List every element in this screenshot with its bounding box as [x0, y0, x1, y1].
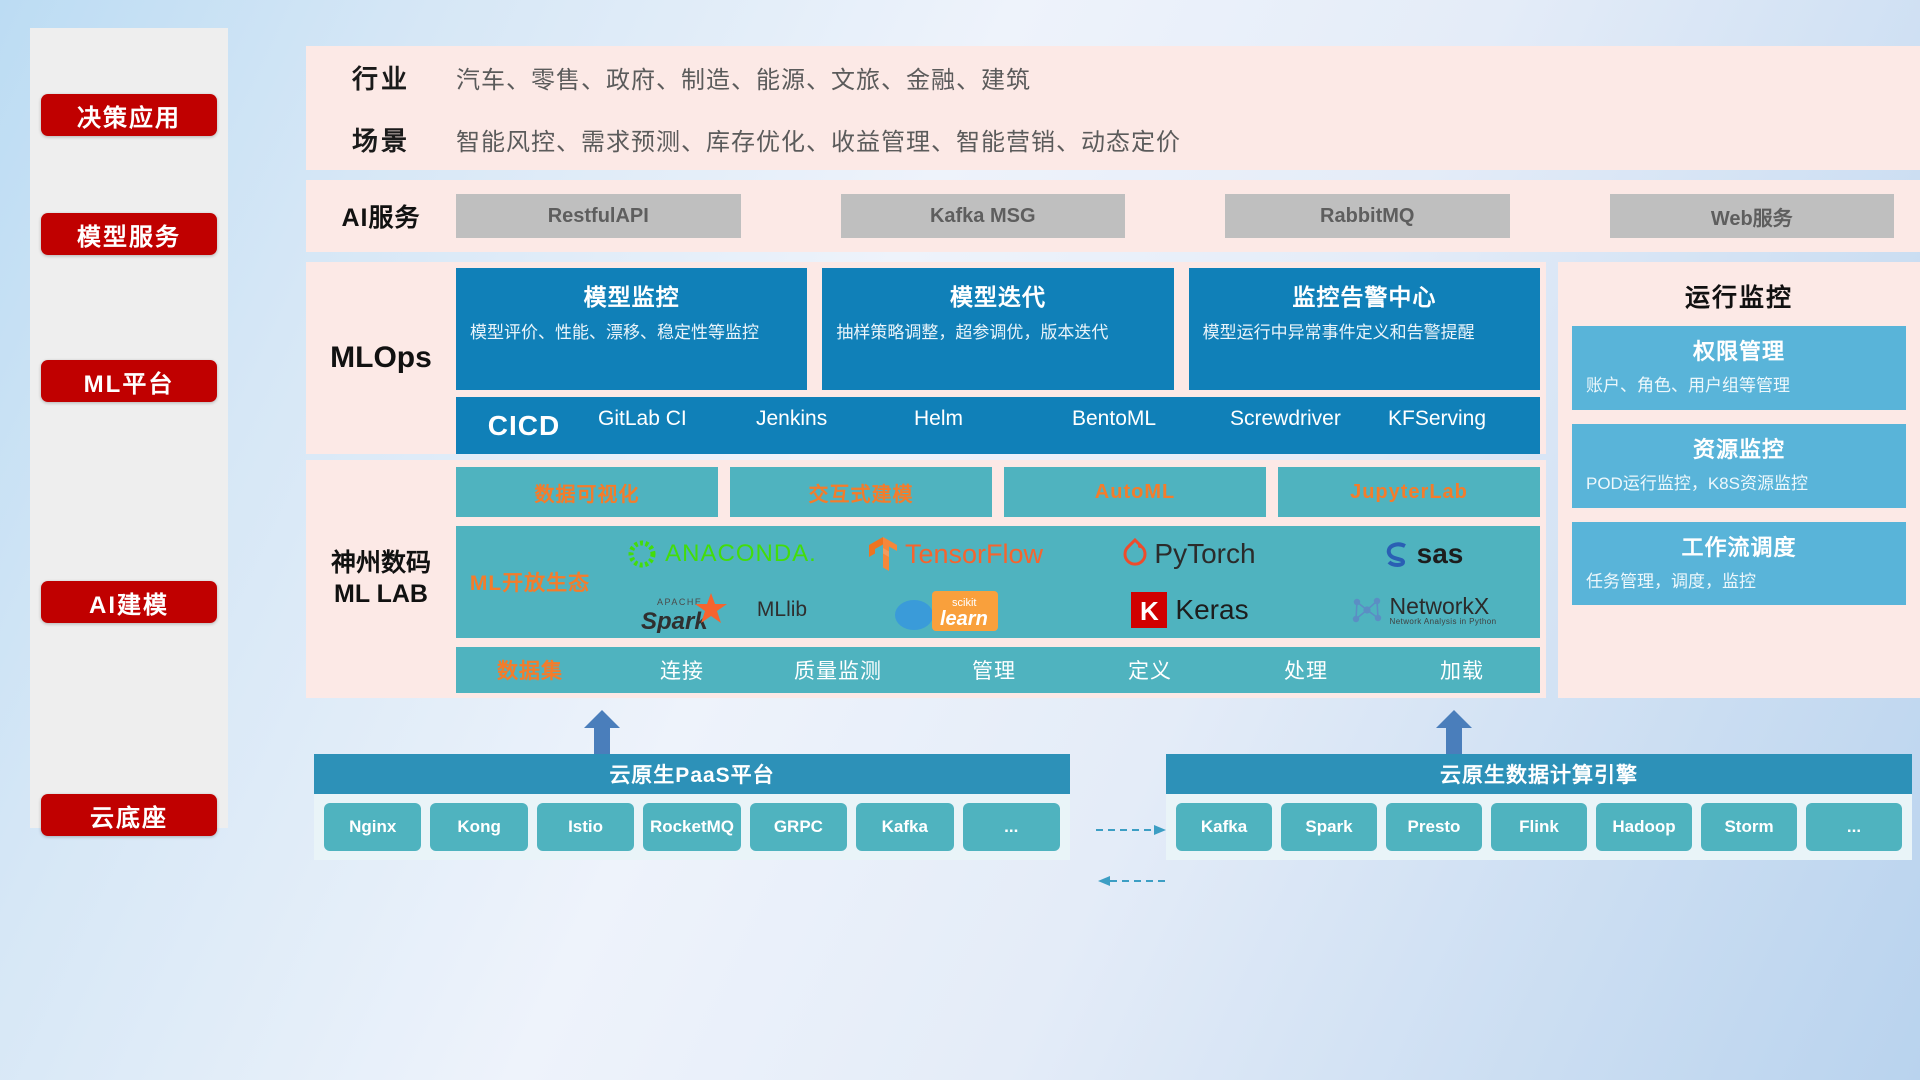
card-title: 权限管理	[1586, 334, 1892, 366]
rail-item-label: 决策应用	[77, 98, 181, 133]
card-title: 模型迭代	[836, 278, 1159, 312]
eco-logo-row-1: ANACONDA. TensorFlow	[604, 526, 1540, 582]
paas-chip-rocketmq[interactable]: RocketMQ	[643, 803, 740, 851]
cloud-paas-chip-group: Nginx Kong Istio RocketMQ GRPC Kafka ...	[314, 794, 1070, 860]
service-chip-web[interactable]: Web服务	[1610, 194, 1895, 238]
eco-title: ML开放生态	[456, 567, 604, 597]
ml-lab-body: 数据可视化 交互式建模 AutoML JupyterLab ML开放生态 ANA…	[456, 460, 1546, 698]
card-desc: 任务管理，调度，监控	[1586, 570, 1892, 594]
dataset-title: 数据集	[456, 655, 604, 685]
monitoring-card-workflow[interactable]: 工作流调度 任务管理，调度，监控	[1572, 522, 1906, 606]
rail-item-cloud-base[interactable]: 云底座	[41, 794, 217, 836]
dataset-item-manage[interactable]: 管理	[916, 655, 1072, 685]
cicd-bar: CICD GitLab CI Jenkins Helm BentoML Scre…	[456, 397, 1540, 454]
mlops-card-model-monitoring[interactable]: 模型监控 模型评价、性能、漂移、稳定性等监控	[456, 268, 807, 390]
service-chip-kafka-msg[interactable]: Kafka MSG	[841, 194, 1126, 238]
service-chip-restfulapi[interactable]: RestfulAPI	[456, 194, 741, 238]
dataset-item-group: 连接 质量监测 管理 定义 处理 加载	[604, 655, 1540, 685]
card-title: 资源监控	[1586, 432, 1892, 464]
dataset-item-process[interactable]: 处理	[1228, 655, 1384, 685]
paas-chip-more[interactable]: ...	[963, 803, 1060, 851]
svg-text:K: K	[1140, 596, 1159, 626]
cloud-foundation-band: 云原生PaaS平台 Nginx Kong Istio RocketMQ GRPC…	[306, 710, 1920, 870]
arrow-left-dashed-icon	[1096, 874, 1168, 892]
engine-chip-hadoop[interactable]: Hadoop	[1596, 803, 1692, 851]
logo-mllib-label: MLlib	[757, 598, 807, 622]
tool-chip-data-visualization[interactable]: 数据可视化	[456, 467, 718, 517]
cicd-item-helm[interactable]: Helm	[908, 404, 1066, 434]
ai-service-chip-group: RestfulAPI Kafka MSG RabbitMQ Web服务	[456, 194, 1920, 238]
ml-lab-label-line2: ML LAB	[334, 579, 428, 610]
logo-tensorflow-label: TensorFlow	[905, 539, 1043, 570]
svg-text:learn: learn	[940, 608, 988, 630]
rail-item-label: ML平台	[84, 364, 175, 399]
card-title: 监控告警中心	[1203, 278, 1526, 312]
rail-item-label: 云底座	[90, 798, 168, 833]
engine-chip-kafka[interactable]: Kafka	[1176, 803, 1272, 851]
mlops-card-alert-center[interactable]: 监控告警中心 模型运行中异常事件定义和告警提醒	[1189, 268, 1540, 390]
monitoring-card-resource[interactable]: 资源监控 POD运行监控，K8S资源监控	[1572, 424, 1906, 508]
cicd-item-gitlab-ci[interactable]: GitLab CI	[592, 404, 750, 434]
rail-item-decision-apps[interactable]: 决策应用	[41, 94, 217, 136]
cicd-item-kfserving[interactable]: KFServing	[1382, 404, 1540, 434]
decision-apps-band: 行业 汽车、零售、政府、制造、能源、文旅、金融、建筑 场景 智能风控、需求预测、…	[306, 46, 1920, 170]
card-desc: POD运行监控，K8S资源监控	[1586, 472, 1892, 496]
mlops-body: 模型监控 模型评价、性能、漂移、稳定性等监控 模型迭代 抽样策略调整，超参调优，…	[456, 262, 1546, 454]
eco-logo-row-2: APACHE Spark MLlib scikit learn	[604, 582, 1540, 638]
rail-item-model-service[interactable]: 模型服务	[41, 213, 217, 255]
engine-chip-storm[interactable]: Storm	[1701, 803, 1797, 851]
tool-chip-jupyterlab[interactable]: JupyterLab	[1278, 467, 1540, 517]
industry-value: 汽车、零售、政府、制造、能源、文旅、金融、建筑	[456, 60, 1031, 95]
logo-sas-icon: sas	[1306, 538, 1540, 570]
cloud-paas-title: 云原生PaaS平台	[314, 754, 1070, 794]
ml-lab-label-line1: 神州数码	[331, 548, 431, 579]
mlops-card-group: 模型监控 模型评价、性能、漂移、稳定性等监控 模型迭代 抽样策略调整，超参调优，…	[456, 268, 1540, 390]
ml-lab-label: 神州数码 ML LAB	[306, 460, 456, 698]
paas-chip-grpc[interactable]: GRPC	[750, 803, 847, 851]
logo-scikit-learn-icon: scikit learn	[838, 587, 1072, 633]
svg-text:APACHE: APACHE	[657, 597, 702, 607]
rail-item-label: AI建模	[89, 585, 169, 620]
engine-chip-spark[interactable]: Spark	[1281, 803, 1377, 851]
engine-chip-presto[interactable]: Presto	[1386, 803, 1482, 851]
cloud-data-engine-title: 云原生数据计算引擎	[1166, 754, 1912, 794]
logo-tensorflow-icon: TensorFlow	[838, 535, 1072, 573]
card-desc: 账户、角色、用户组等管理	[1586, 374, 1892, 398]
cicd-item-jenkins[interactable]: Jenkins	[750, 404, 908, 434]
service-chip-rabbitmq[interactable]: RabbitMQ	[1225, 194, 1510, 238]
engine-chip-more[interactable]: ...	[1806, 803, 1902, 851]
card-desc: 模型评价、性能、漂移、稳定性等监控	[470, 322, 793, 345]
dataset-item-load[interactable]: 加载	[1384, 655, 1540, 685]
cloud-data-engine-chip-group: Kafka Spark Presto Flink Hadoop Storm ..…	[1166, 794, 1912, 860]
rail-item-ml-platform[interactable]: ML平台	[41, 360, 217, 402]
logo-spark-mllib-icon: APACHE Spark MLlib	[604, 587, 838, 633]
dataset-item-quality[interactable]: 质量监测	[760, 655, 916, 685]
industry-label: 行业	[306, 59, 456, 96]
ml-lab-band: 神州数码 ML LAB 数据可视化 交互式建模 AutoML JupyterLa…	[306, 460, 1546, 698]
engine-chip-flink[interactable]: Flink	[1491, 803, 1587, 851]
dataset-item-define[interactable]: 定义	[1072, 655, 1228, 685]
logo-keras-label: Keras	[1175, 594, 1248, 626]
dataset-item-connect[interactable]: 连接	[604, 655, 760, 685]
monitoring-card-permission[interactable]: 权限管理 账户、角色、用户组等管理	[1572, 326, 1906, 410]
industry-row: 行业 汽车、零售、政府、制造、能源、文旅、金融、建筑	[306, 46, 1920, 108]
paas-chip-istio[interactable]: Istio	[537, 803, 634, 851]
card-title: 工作流调度	[1586, 530, 1892, 562]
cicd-item-bentoml[interactable]: BentoML	[1066, 404, 1224, 434]
dataset-row: 数据集 连接 质量监测 管理 定义 处理 加载	[456, 647, 1540, 693]
model-service-band: AI服务 RestfulAPI Kafka MSG RabbitMQ Web服务	[306, 180, 1920, 252]
card-desc: 模型运行中异常事件定义和告警提醒	[1203, 322, 1526, 345]
ml-lab-tool-group: 数据可视化 交互式建模 AutoML JupyterLab	[456, 467, 1540, 517]
arrow-right-dashed-icon	[1096, 823, 1168, 841]
logo-keras-icon: K Keras	[1072, 590, 1306, 630]
ai-service-label: AI服务	[306, 198, 456, 234]
mlops-card-model-iteration[interactable]: 模型迭代 抽样策略调整，超参调优，版本迭代	[822, 268, 1173, 390]
logo-anaconda-icon: ANACONDA.	[604, 537, 838, 571]
scenario-label: 场景	[306, 121, 456, 158]
cloud-data-engine: 云原生数据计算引擎 Kafka Spark Presto Flink Hadoo…	[1166, 754, 1912, 860]
scenario-value: 智能风控、需求预测、库存优化、收益管理、智能营销、动态定价	[456, 122, 1181, 157]
logo-pytorch-label: PyTorch	[1154, 538, 1255, 570]
scenario-row: 场景 智能风控、需求预测、库存优化、收益管理、智能营销、动态定价	[306, 108, 1920, 170]
card-title: 模型监控	[470, 278, 793, 312]
paas-chip-kong[interactable]: Kong	[430, 803, 527, 851]
rail-item-label: 模型服务	[77, 217, 181, 252]
tool-chip-interactive-modeling[interactable]: 交互式建模	[730, 467, 992, 517]
ml-open-ecosystem: ML开放生态 ANACONDA.	[456, 526, 1540, 638]
logo-sas-label: sas	[1417, 538, 1464, 570]
card-desc: 抽样策略调整，超参调优，版本迭代	[836, 322, 1159, 345]
tool-chip-automl[interactable]: AutoML	[1004, 467, 1266, 517]
layer-rail: 决策应用 模型服务 ML平台 AI建模 云底座	[30, 28, 228, 828]
cicd-item-screwdriver[interactable]: Screwdriver	[1224, 404, 1382, 434]
monitoring-header: 运行监控	[1572, 270, 1906, 326]
rail-item-ai-modeling[interactable]: AI建模	[41, 581, 217, 623]
cicd-item-group: GitLab CI Jenkins Helm BentoML Screwdriv…	[592, 417, 1540, 434]
cloud-paas-platform: 云原生PaaS平台 Nginx Kong Istio RocketMQ GRPC…	[314, 754, 1070, 860]
logo-networkx-label: NetworkX Network Analysis in Python	[1390, 595, 1497, 626]
cicd-title: CICD	[456, 410, 592, 442]
svg-text:Spark: Spark	[641, 608, 709, 633]
runtime-monitoring-band: 运行监控 权限管理 账户、角色、用户组等管理 资源监控 POD运行监控，K8S资…	[1558, 262, 1920, 698]
arrow-up-data-engine-icon	[1434, 710, 1474, 756]
mlops-label: MLOps	[306, 262, 456, 454]
mlops-band: MLOps 模型监控 模型评价、性能、漂移、稳定性等监控 模型迭代 抽样策略调整…	[306, 262, 1546, 454]
paas-chip-kafka[interactable]: Kafka	[856, 803, 953, 851]
logo-networkx-icon: NetworkX Network Analysis in Python	[1306, 593, 1540, 627]
logo-anaconda-label: ANACONDA.	[665, 540, 817, 568]
paas-chip-nginx[interactable]: Nginx	[324, 803, 421, 851]
eco-logo-grid: ANACONDA. TensorFlow	[604, 526, 1540, 638]
arrow-up-paas-icon	[582, 710, 622, 756]
logo-pytorch-icon: PyTorch	[1072, 538, 1306, 570]
